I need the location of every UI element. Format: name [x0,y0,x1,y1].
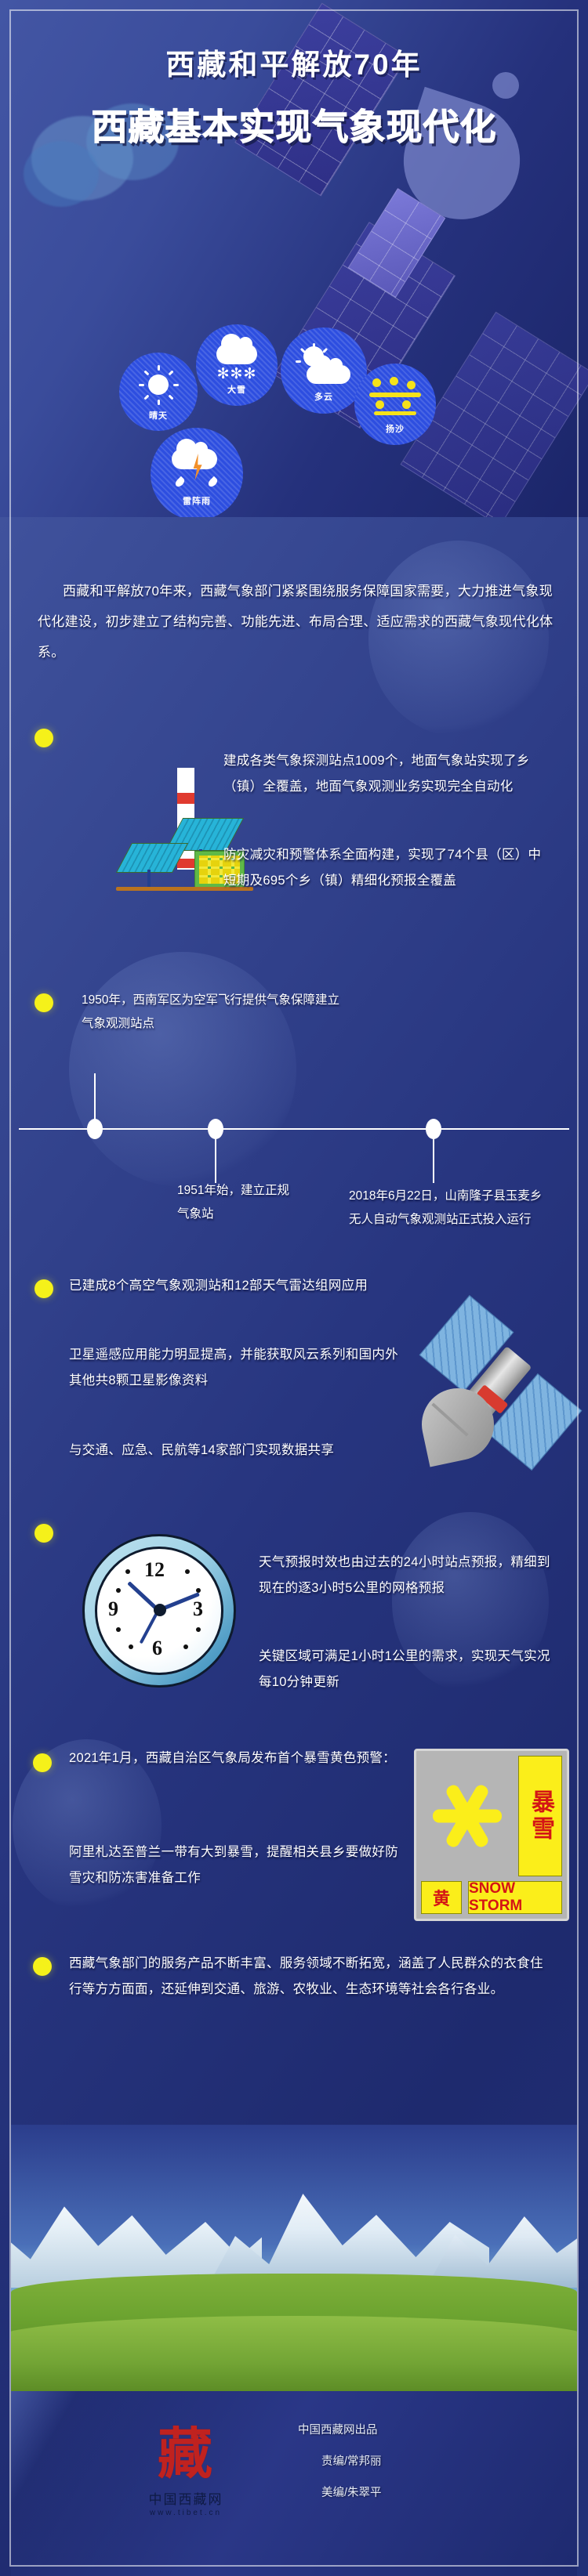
weather-label: 扬沙 [386,422,405,435]
clock-illustration: 12 3 6 9 [82,1534,239,1691]
clock-number-3: 3 [193,1597,203,1621]
timeline-stem [433,1138,434,1183]
sunny-icon [136,362,181,407]
bullet-marker-warning [33,1753,52,1772]
page-title-secondary: 西藏基本实现气象现代化 [0,99,588,150]
tibet-net-logo-url: www.tibet.cn [129,2509,243,2517]
stations-text-line2: 防灾减灾和预警体系全面构建，实现了74个县（区）中短期及695个乡（镇）精细化预… [223,842,553,894]
services-paragraph: 西藏气象部门的服务产品不断丰富、服务领域不断拓宽，涵盖了人民群众的衣食住行等方方… [69,1951,555,2003]
bullet-marker-timeline [34,993,53,1012]
page-title-primary: 西藏和平解放70年 [0,41,588,83]
timeline-event-2018: 2018年6月22日，山南隆子县玉麦乡无人自动气象观测站正式投入运行 [349,1185,553,1232]
bullet-marker-services [33,1957,52,1976]
weather-bubble-sunny: 晴天 [119,353,198,431]
footer-editor: 责编/常邦丽 [321,2452,382,2469]
hero-title-group: 西藏和平解放70年 西藏基本实现气象现代化 [0,41,588,150]
weather-bubble-thunderstorm: 雷阵雨 [151,428,243,517]
stations-text-line1: 建成各类气象探测站点1009个，地面气象站实现了乡（镇）全覆盖，地面气象观测业务… [223,748,553,800]
tibet-net-logo-name: 中国西藏网 [129,2488,243,2508]
clock-number-6: 6 [152,1637,162,1660]
warning-title-vertical: 暴雪 [518,1756,562,1876]
decorative-cloud [24,141,99,207]
grassland-near [11,2316,577,2391]
weather-bubble-heavy-snow: ✻✻✻ 大雪 [196,324,278,406]
bullet-marker-satellite [34,1279,53,1298]
timeline-event-1951: 1951年始，建立正规气象站 [177,1179,295,1226]
thunderstorm-icon [164,444,230,493]
weather-label: 雷阵雨 [183,494,211,507]
footer-produced-by: 中国西藏网出品 [298,2421,378,2437]
timeline-headline: 1950年，西南军区为空军飞行提供气象保障建立气象观测站点 [82,989,340,1036]
timeline-stem [215,1138,216,1183]
timeline-dot [426,1119,441,1139]
bullet-marker-stations [34,729,53,747]
snowflake-star-icon [421,1756,514,1876]
tibet-landscape-illustration [11,2125,577,2391]
satellite-text-line3: 与交通、应急、民航等14家部门实现数据共享 [69,1438,406,1463]
hero-banner: 西藏和平解放70年 西藏基本实现气象现代化 晴天 ✻✻✻ [0,0,588,517]
satellite-text-line1: 已建成8个高空气象观测站和12部天气雷达组网应用 [69,1273,406,1299]
infographic-page: 西藏和平解放70年 西藏基本实现气象现代化 晴天 ✻✻✻ [0,0,588,2576]
bullet-marker-forecast [34,1524,53,1543]
warning-text-line1: 2021年1月，西藏自治区气象局发布首个暴雪黄色预警： [69,1746,398,1771]
heavy-snow-icon: ✻✻✻ [216,335,257,382]
forecast-text-line1: 天气预报时效也由过去的24小时站点预报，精细到现在的逐3小时5公里的网格预报 [259,1550,555,1601]
warning-level-label: 黄 [421,1881,462,1914]
cloudy-icon [294,345,354,389]
timeline-stem [94,1073,96,1122]
page-footer: 藏 中国西藏网 www.tibet.cn 中国西藏网出品 责编/常邦丽 美编/朱… [11,2391,577,2576]
weather-bubble-blowing-sand: 扬沙 [354,364,436,445]
forecast-text-line2: 关键区域可满足1小时1公里的需求，实现天气实况每10分钟更新 [259,1644,555,1695]
weather-label: 大雪 [227,383,246,396]
warning-text-line2: 阿里札达至普兰一带有大到暴雪，提醒相关县乡要做好防雪灾和防冻害准备工作 [69,1840,398,1891]
clock-number-9: 9 [108,1597,118,1621]
weather-label: 晴天 [149,409,168,421]
blowing-sand-icon [368,377,423,421]
clock-number-12: 12 [144,1558,165,1582]
satellite-text-line2: 卫星遥感应用能力明显提高，并能获取风云系列和国内外其他共8颗卫星影像资料 [69,1342,406,1394]
clock-face: 12 3 6 9 [95,1547,223,1675]
decorative-glow [69,952,296,1187]
snow-storm-warning-sign: 暴雪 黄 SNOW STORM [414,1749,569,1921]
timeline-dot [208,1119,223,1139]
satellite-illustration [408,1301,576,1481]
tibet-net-logo-icon: 藏 [151,2424,220,2487]
warning-english-label: SNOW STORM [468,1881,562,1914]
intro-paragraph: 西藏和平解放70年来，西藏气象部门紧紧围绕服务保障国家需要，大力推进气象现代化建… [38,576,555,668]
footer-designer: 美编/朱翠平 [321,2484,382,2500]
timeline-dot [87,1119,103,1139]
weather-label: 多云 [314,390,333,403]
clock-center-pin [154,1604,166,1616]
